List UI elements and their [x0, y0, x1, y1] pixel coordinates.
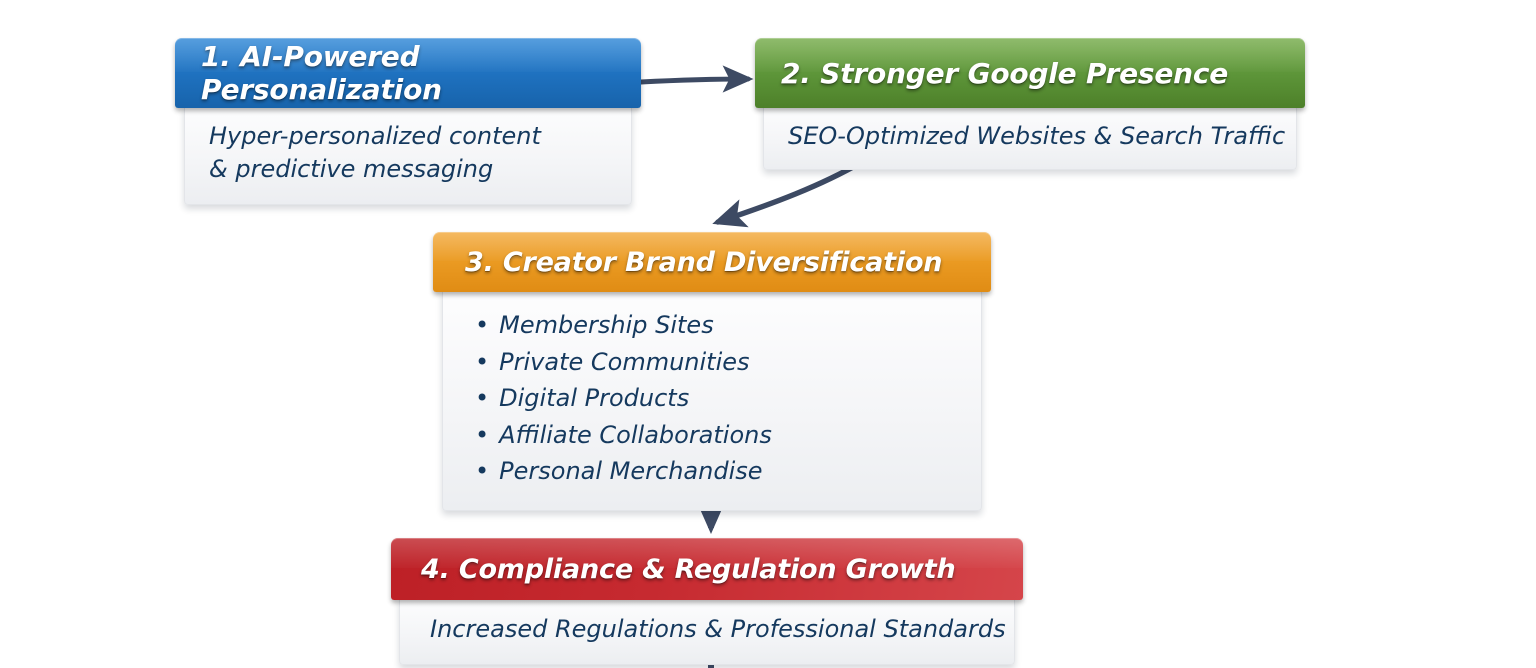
list-item: • Affiliate Collaborations [475, 417, 957, 454]
node-4-header: 4. Compliance & Regulation Growth [391, 538, 1023, 600]
diagram-canvas: 1. AI-Powered Personalization Hyper-pers… [0, 0, 1536, 668]
node-2-title: 2. Stronger Google Presence [781, 57, 1228, 90]
arrow-node1-to-node2 [641, 79, 748, 82]
list-item-label: Personal Merchandise [499, 453, 762, 490]
list-item: • Personal Merchandise [475, 453, 957, 490]
node-creator-brand-diversification[interactable]: 3. Creator Brand Diversification • Membe… [433, 232, 991, 511]
node-1-body-line: & predictive messaging [209, 153, 607, 186]
node-2-body: SEO-Optimized Websites & Search Traffic [763, 105, 1297, 170]
bullet-icon: • [475, 307, 489, 344]
node-1-title: 1. AI-Powered Personalization [201, 40, 615, 106]
node-3-title: 3. Creator Brand Diversification [465, 247, 942, 278]
node-2-body-line: SEO-Optimized Websites & Search Traffic [788, 120, 1272, 153]
node-3-header: 3. Creator Brand Diversification [433, 232, 991, 292]
list-item: • Membership Sites [475, 307, 957, 344]
node-4-body-line: Increased Regulations & Professional Sta… [430, 613, 990, 646]
node-compliance-regulation-growth[interactable]: 4. Compliance & Regulation Growth Increa… [391, 538, 1023, 665]
arrow-node2-to-node3 [718, 162, 862, 222]
node-3-bullet-list: • Membership Sites • Private Communities… [475, 307, 957, 490]
node-1-header: 1. AI-Powered Personalization [175, 38, 641, 108]
node-ai-powered-personalization[interactable]: 1. AI-Powered Personalization Hyper-pers… [175, 38, 641, 205]
list-item-label: Membership Sites [499, 307, 714, 344]
list-item: • Digital Products [475, 380, 957, 417]
list-item-label: Digital Products [499, 380, 689, 417]
list-item-label: Affiliate Collaborations [499, 417, 772, 454]
list-item: • Private Communities [475, 344, 957, 381]
node-3-body: • Membership Sites • Private Communities… [442, 289, 982, 511]
node-4-body: Increased Regulations & Professional Sta… [399, 597, 1015, 665]
node-4-title: 4. Compliance & Regulation Growth [421, 554, 956, 585]
bullet-icon: • [475, 380, 489, 417]
node-1-body: Hyper-personalized content & predictive … [184, 105, 632, 205]
bullet-icon: • [475, 417, 489, 454]
node-stronger-google-presence[interactable]: 2. Stronger Google Presence SEO-Optimize… [755, 38, 1305, 170]
node-1-body-line: Hyper-personalized content [209, 120, 607, 153]
node-2-header: 2. Stronger Google Presence [755, 38, 1305, 108]
bullet-icon: • [475, 344, 489, 381]
bullet-icon: • [475, 453, 489, 490]
list-item-label: Private Communities [499, 344, 749, 381]
